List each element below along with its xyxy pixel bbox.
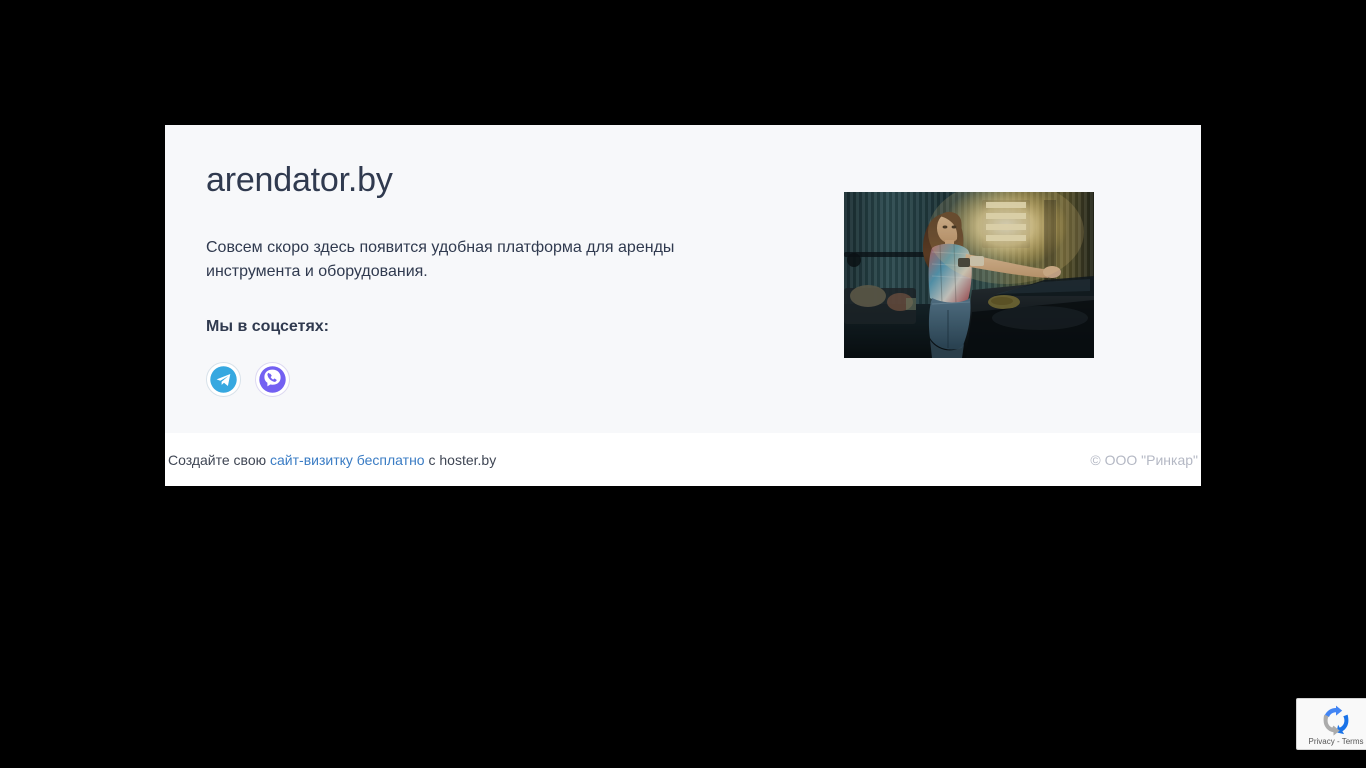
page-title: arendator.by [206,161,785,200]
footer-credit: Создайте свою сайт-визитку бесплатно с h… [168,452,496,468]
copyright-text: © ООО "Ринкар" [1090,452,1198,468]
site-card: arendator.by Совсем скоро здесь появится… [165,125,1201,486]
card-body: arendator.by Совсем скоро здесь появится… [165,125,1201,433]
telegram-icon[interactable] [206,362,241,397]
viber-icon[interactable] [255,362,290,397]
page-root: arendator.by Совсем скоро здесь появится… [0,0,1366,768]
content-left: arendator.by Совсем скоро здесь появится… [165,125,785,397]
recaptcha-icon [1320,704,1352,736]
social-links [206,362,785,397]
footer-suffix: с hoster.by [428,452,496,468]
social-heading: Мы в соцсетях: [206,316,785,338]
intro-paragraph: Совсем скоро здесь появится удобная плат… [206,236,686,284]
site-footer: Создайте свою сайт-визитку бесплатно с h… [165,433,1201,486]
recaptcha-privacy-terms[interactable]: Privacy - Terms [1309,737,1364,746]
hero-image [844,192,1094,358]
footer-hoster-link[interactable]: сайт-визитку бесплатно [270,452,425,468]
footer-prefix: Создайте свою [168,452,266,468]
recaptcha-badge[interactable]: Privacy - Terms [1296,698,1366,750]
